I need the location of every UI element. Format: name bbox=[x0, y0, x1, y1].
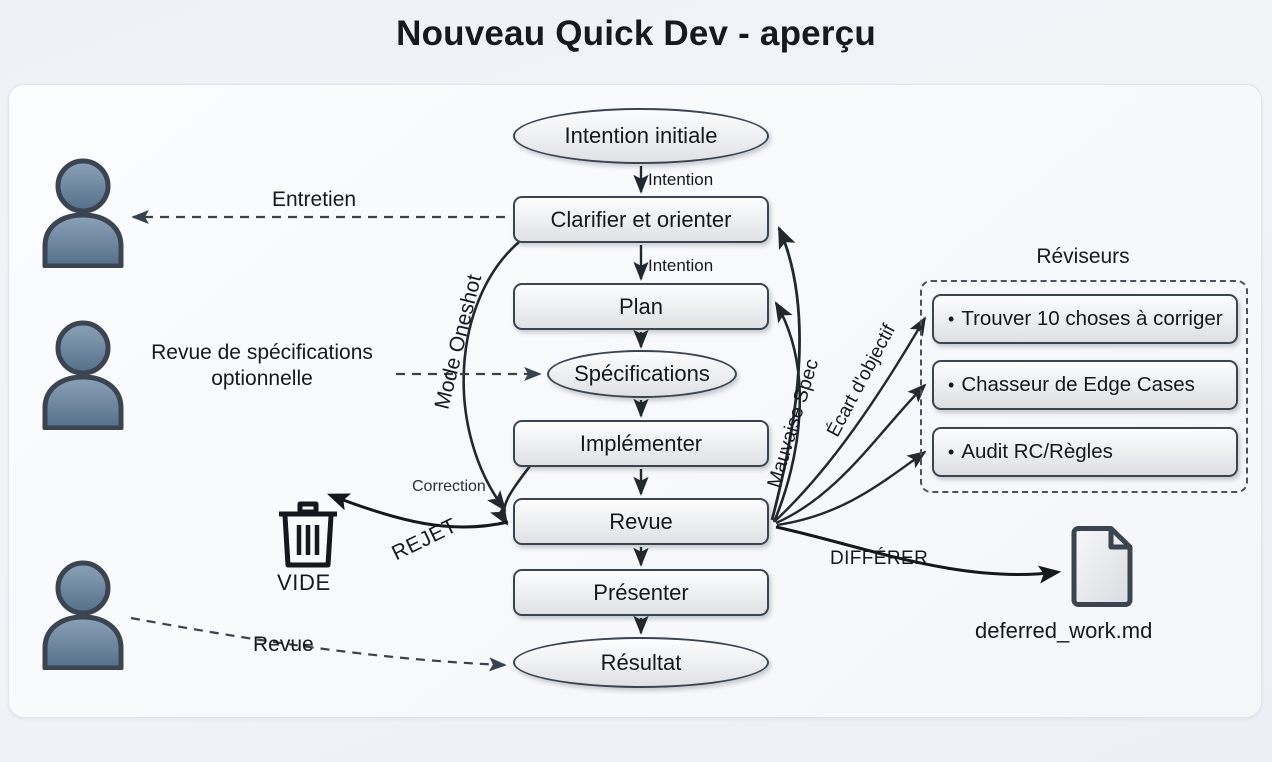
file-icon bbox=[1069, 525, 1135, 609]
node-specifications[interactable]: Spécifications bbox=[547, 350, 737, 398]
page-title: Nouveau Quick Dev - aperçu bbox=[0, 14, 1272, 54]
edge-label-intention-2: Intention bbox=[648, 256, 713, 276]
edge-label-differer: DIFFÉRER bbox=[830, 548, 928, 570]
node-clarifier-et-orienter[interactable]: Clarifier et orienter bbox=[513, 196, 769, 243]
reviewers-group-title: Réviseurs bbox=[918, 245, 1248, 269]
reviewer-label-1: Chasseur de Edge Cases bbox=[961, 373, 1195, 397]
label-entretien: Entretien bbox=[272, 188, 356, 212]
node-revue[interactable]: Revue bbox=[513, 498, 769, 545]
label-revue-specs-line2: optionnelle bbox=[136, 366, 388, 392]
reviewer-label-2: Audit RC/Règles bbox=[961, 440, 1113, 464]
diagram-root: Nouveau Quick Dev - aperçu bbox=[0, 0, 1272, 762]
edge-label-correction: Correction bbox=[412, 478, 486, 496]
trash-icon bbox=[273, 497, 343, 569]
actor-icon-review bbox=[40, 560, 126, 670]
label-deferred-work-file: deferred_work.md bbox=[975, 618, 1152, 644]
bullet-icon: • bbox=[948, 310, 954, 328]
reviewer-label-0: Trouver 10 choses à corriger bbox=[961, 307, 1222, 331]
label-revue-specifications: Revue de spécifications optionnelle bbox=[136, 340, 388, 392]
edge-label-intention-1: Intention bbox=[648, 170, 713, 190]
reviewer-item-2[interactable]: • Audit RC/Règles bbox=[932, 427, 1238, 477]
actor-icon-spec-review bbox=[40, 320, 126, 430]
node-intention-initiale[interactable]: Intention initiale bbox=[513, 108, 769, 164]
reviewer-item-0[interactable]: • Trouver 10 choses à corriger bbox=[932, 294, 1238, 344]
node-presenter[interactable]: Présenter bbox=[513, 569, 769, 616]
reviewer-item-1[interactable]: • Chasseur de Edge Cases bbox=[932, 360, 1238, 410]
node-implementer[interactable]: Implémenter bbox=[513, 420, 769, 467]
node-resultat[interactable]: Résultat bbox=[513, 637, 769, 688]
label-vide: VIDE bbox=[277, 570, 331, 596]
bullet-icon: • bbox=[948, 376, 954, 394]
label-revue-specs-line1: Revue de spécifications bbox=[136, 340, 388, 366]
label-revue-actor: Revue bbox=[253, 633, 314, 657]
bullet-icon: • bbox=[948, 443, 954, 461]
actor-icon-entretien bbox=[40, 158, 126, 268]
node-plan[interactable]: Plan bbox=[513, 283, 769, 330]
